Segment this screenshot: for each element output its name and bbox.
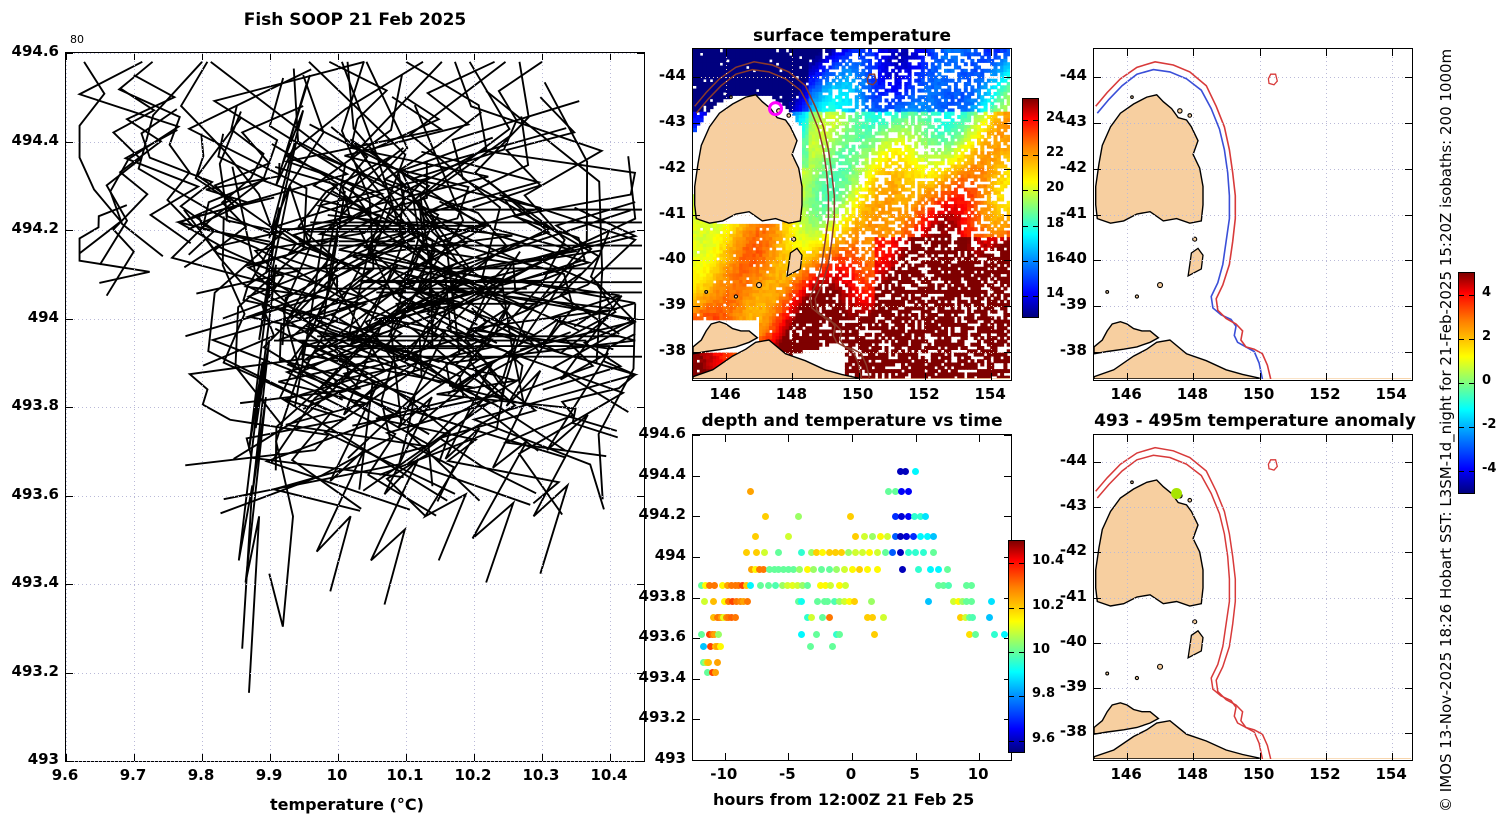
ytick-label: 493.6 bbox=[616, 627, 686, 645]
colorbar-tick-label: -4 bbox=[1482, 461, 1496, 476]
scatter-point bbox=[905, 549, 912, 556]
scatter-point bbox=[945, 582, 952, 589]
scatter-point bbox=[836, 631, 843, 638]
xtick-label: 9.9 bbox=[241, 766, 297, 784]
xtick-label: 148 bbox=[1164, 385, 1220, 403]
depth-time-xlabel: hours from 12:00Z 21 Feb 25 bbox=[713, 790, 974, 809]
anomaly-data-point bbox=[1171, 488, 1182, 499]
anomaly-colorbar bbox=[1458, 272, 1475, 494]
xtick-label: 9.6 bbox=[37, 766, 93, 784]
anomaly-map-title: 493 - 495m temperature anomaly bbox=[1085, 411, 1425, 431]
scatter-point bbox=[798, 631, 805, 638]
ytick-label: -42 bbox=[1017, 158, 1087, 176]
scatter-point bbox=[884, 533, 891, 540]
scatter-point bbox=[905, 488, 912, 495]
scatter-point bbox=[712, 669, 719, 676]
scatter-point bbox=[701, 598, 708, 605]
scatter-point bbox=[864, 566, 871, 573]
xtick-label: 150 bbox=[1231, 765, 1287, 783]
scatter-point bbox=[986, 614, 993, 621]
scatter-point bbox=[711, 582, 718, 589]
xtick-label: 146 bbox=[1098, 765, 1154, 783]
scatter-point bbox=[847, 513, 854, 520]
scatter-point bbox=[856, 566, 863, 573]
ytick-label: 493.4 bbox=[616, 668, 686, 686]
colorbar-tick-label: 2 bbox=[1482, 329, 1491, 344]
scatter-point bbox=[827, 582, 834, 589]
ytick-label: -41 bbox=[616, 204, 686, 222]
ytick-label: 493.8 bbox=[0, 396, 59, 414]
scatter-point bbox=[861, 533, 868, 540]
scatter-point bbox=[851, 598, 858, 605]
scatter-point bbox=[807, 643, 814, 650]
ytick-label: -41 bbox=[1017, 587, 1087, 605]
scatter-point bbox=[882, 549, 889, 556]
ytick-label: 494 bbox=[616, 546, 686, 564]
scatter-point bbox=[920, 549, 927, 556]
scatter-point bbox=[804, 582, 811, 589]
scatter-point bbox=[752, 533, 759, 540]
scatter-point bbox=[935, 566, 942, 573]
ytick-label: -40 bbox=[1017, 249, 1087, 267]
scatter-point bbox=[700, 643, 707, 650]
colorbar-tick-label: 20 bbox=[1046, 180, 1064, 195]
profile-corner-label: 80 bbox=[70, 33, 84, 46]
scatter-point bbox=[753, 549, 760, 556]
scatter-point bbox=[757, 582, 764, 589]
xtick-label: 152 bbox=[896, 385, 952, 403]
scatter-point bbox=[826, 566, 833, 573]
profile-xlabel: temperature (°C) bbox=[270, 795, 424, 814]
ytick-label: 494.2 bbox=[616, 505, 686, 523]
ytick-label: -43 bbox=[1017, 112, 1087, 130]
profile-title: Fish SOOP 21 Feb 2025 bbox=[65, 10, 645, 30]
ytick-label: 494.4 bbox=[616, 465, 686, 483]
scatter-point bbox=[897, 549, 904, 556]
scatter-point bbox=[915, 566, 922, 573]
ytick-label: 494.6 bbox=[616, 424, 686, 442]
xtick-label: -10 bbox=[696, 765, 752, 783]
colorbar-tick-label: -2 bbox=[1482, 417, 1496, 432]
profile-panel: Fish SOOP 21 Feb 2025 80 depth (m) tempe… bbox=[0, 0, 90, 19]
ytick-label: -38 bbox=[616, 341, 686, 359]
xtick-label: 154 bbox=[1363, 765, 1419, 783]
scatter-point bbox=[747, 488, 754, 495]
ytick-label: 493.8 bbox=[616, 587, 686, 605]
scatter-point bbox=[912, 549, 919, 556]
xtick-label: 10 bbox=[950, 765, 1006, 783]
xtick-label: 0 bbox=[823, 765, 879, 783]
ytick-label: -39 bbox=[1017, 677, 1087, 695]
ytick-label: -44 bbox=[1017, 66, 1087, 84]
ytick-label: 494.6 bbox=[0, 42, 59, 60]
xtick-label: 150 bbox=[830, 385, 886, 403]
scatter-point bbox=[988, 598, 995, 605]
scatter-point bbox=[925, 598, 932, 605]
sst-map-title: surface temperature bbox=[692, 26, 1012, 46]
profile-traces bbox=[66, 53, 642, 759]
scatter-point bbox=[859, 549, 866, 556]
scatter-point bbox=[930, 549, 937, 556]
xtick-label: 9.8 bbox=[173, 766, 229, 784]
scatter-point bbox=[785, 533, 792, 540]
scatter-point bbox=[874, 549, 881, 556]
scatter-point bbox=[972, 631, 979, 638]
ytick-label: -39 bbox=[1017, 295, 1087, 313]
xtick-label: 152 bbox=[1297, 385, 1353, 403]
scatter-point bbox=[991, 631, 998, 638]
scatter-point bbox=[842, 582, 849, 589]
ytick-label: -44 bbox=[1017, 451, 1087, 469]
xtick-label: 146 bbox=[1098, 385, 1154, 403]
scatter-point bbox=[969, 614, 976, 621]
scatter-point bbox=[710, 598, 717, 605]
ytick-label: 493.6 bbox=[0, 485, 59, 503]
ytick-label: -42 bbox=[616, 158, 686, 176]
xtick-label: -5 bbox=[759, 765, 815, 783]
xtick-label: 10.2 bbox=[445, 766, 501, 784]
colorbar-tick-label: 0 bbox=[1482, 373, 1491, 388]
ytick-label: 494 bbox=[0, 308, 59, 326]
scatter-point bbox=[796, 566, 803, 573]
xtick-label: 146 bbox=[697, 385, 753, 403]
scatter-point bbox=[717, 643, 724, 650]
scatter-point bbox=[715, 631, 722, 638]
scatter-point bbox=[968, 598, 975, 605]
scatter-point bbox=[849, 566, 856, 573]
scatter-point bbox=[841, 566, 848, 573]
scatter-point bbox=[866, 549, 873, 556]
xtick-label: 148 bbox=[763, 385, 819, 403]
scatter-point bbox=[714, 659, 721, 666]
xtick-label: 10.1 bbox=[377, 766, 433, 784]
scatter-point bbox=[877, 533, 884, 540]
scatter-point bbox=[765, 582, 772, 589]
scatter-point bbox=[912, 468, 919, 475]
scatter-point bbox=[868, 598, 875, 605]
colorbar-tick-label: 4 bbox=[1482, 285, 1491, 300]
scatter-point bbox=[761, 549, 768, 556]
scatter-point bbox=[795, 513, 802, 520]
scatter-point bbox=[813, 631, 820, 638]
ytick-label: 493.2 bbox=[0, 662, 59, 680]
xtick-label: 10.4 bbox=[581, 766, 637, 784]
xtick-label: 10.3 bbox=[513, 766, 569, 784]
anomaly-map-axes bbox=[1093, 434, 1413, 761]
scatter-point bbox=[826, 614, 833, 621]
scatter-point bbox=[889, 549, 896, 556]
ytick-label: 493.4 bbox=[0, 573, 59, 591]
scatter-point bbox=[922, 513, 929, 520]
scatter-point bbox=[910, 533, 917, 540]
scatter-point bbox=[744, 598, 751, 605]
ytick-label: -39 bbox=[616, 295, 686, 313]
scatter-point bbox=[871, 631, 878, 638]
xtick-label: 154 bbox=[1363, 385, 1419, 403]
ytick-label: -44 bbox=[616, 66, 686, 84]
ytick-label: -38 bbox=[1017, 341, 1087, 359]
ytick-label: -43 bbox=[1017, 496, 1087, 514]
scatter-point bbox=[732, 614, 739, 621]
credit-text: © IMOS 13-Nov-2025 18:26 Hobart SST: L3S… bbox=[1437, 49, 1455, 812]
xtick-label: 5 bbox=[887, 765, 943, 783]
scatter-point bbox=[747, 582, 754, 589]
scatter-point bbox=[798, 598, 805, 605]
xtick-label: 154 bbox=[962, 385, 1018, 403]
scatter-point bbox=[829, 643, 836, 650]
xtick-label: 150 bbox=[1231, 385, 1287, 403]
sst-map-axes bbox=[692, 48, 1012, 381]
profile-axes bbox=[65, 52, 645, 762]
ytick-label: 493 bbox=[0, 750, 59, 768]
ytick-label: -41 bbox=[1017, 204, 1087, 222]
xtick-label: 148 bbox=[1164, 765, 1220, 783]
scatter-point bbox=[968, 582, 975, 589]
xtick-label: 9.7 bbox=[105, 766, 161, 784]
ytick-label: -40 bbox=[1017, 632, 1087, 650]
scatter-point bbox=[902, 468, 909, 475]
scatter-point bbox=[852, 533, 859, 540]
ytick-label: -38 bbox=[1017, 722, 1087, 740]
scatter-point bbox=[874, 566, 881, 573]
scatter-point bbox=[899, 566, 906, 573]
scatter-point bbox=[705, 659, 712, 666]
scatter-point bbox=[818, 566, 825, 573]
scatter-point bbox=[808, 614, 815, 621]
bathy-map-axes bbox=[1093, 48, 1413, 381]
scatter-point bbox=[845, 549, 852, 556]
ytick-label: -40 bbox=[616, 249, 686, 267]
ytick-label: -42 bbox=[1017, 541, 1087, 559]
scatter-point bbox=[810, 566, 817, 573]
ytick-label: 494.4 bbox=[0, 131, 59, 149]
scatter-point bbox=[869, 533, 876, 540]
scatter-point bbox=[798, 549, 805, 556]
ytick-label: 493 bbox=[616, 749, 686, 767]
ytick-label: 493.2 bbox=[616, 708, 686, 726]
depth-time-title: depth and temperature vs time bbox=[692, 411, 1012, 431]
scatter-point bbox=[927, 566, 934, 573]
scatter-point bbox=[698, 631, 705, 638]
scatter-point bbox=[743, 549, 750, 556]
ytick-label: 494.2 bbox=[0, 219, 59, 237]
scatter-point bbox=[880, 614, 887, 621]
scatter-point bbox=[944, 566, 951, 573]
scatter-point bbox=[930, 533, 937, 540]
ytick-label: -43 bbox=[616, 112, 686, 130]
scatter-point bbox=[775, 549, 782, 556]
xtick-label: 152 bbox=[1297, 765, 1353, 783]
scatter-point bbox=[833, 566, 840, 573]
scatter-point bbox=[762, 513, 769, 520]
depth-time-axes bbox=[692, 434, 1012, 761]
xtick-label: 10 bbox=[309, 766, 365, 784]
scatter-point bbox=[869, 614, 876, 621]
